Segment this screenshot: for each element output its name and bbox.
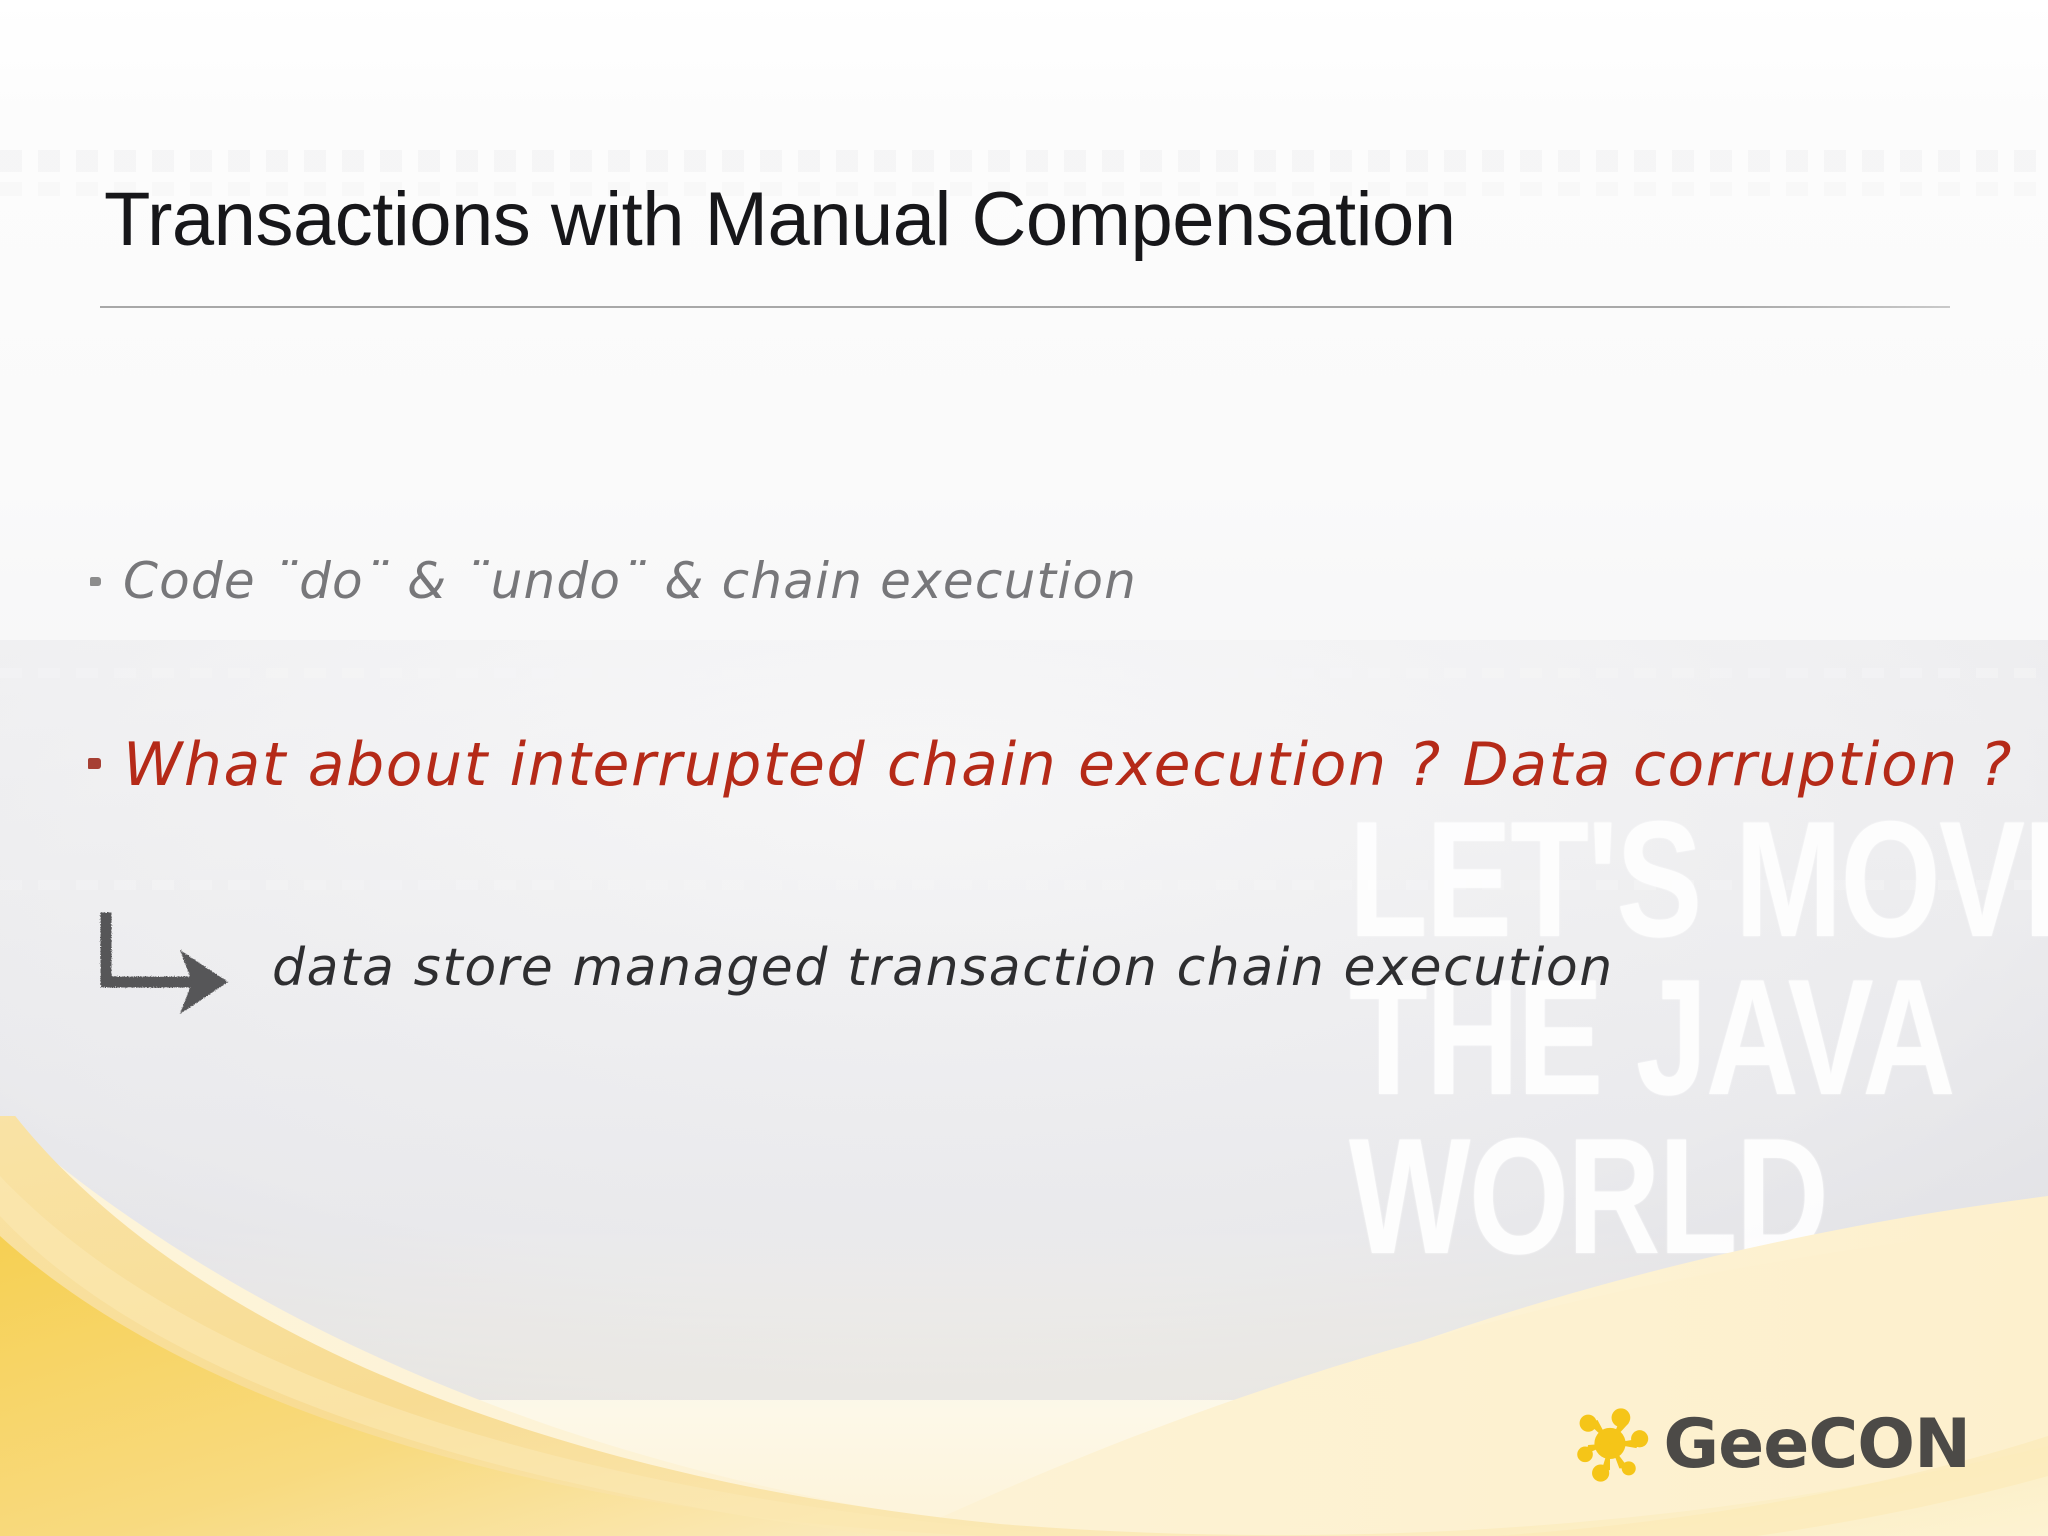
bullet-dot-icon <box>90 577 101 586</box>
geecon-logo: GeeCON <box>1571 1406 1970 1484</box>
bullet-item-conclusion: data store managed transaction chain exe… <box>92 912 1614 1024</box>
slide-body: Code ¨do¨ & ¨undo¨ & chain execution Wha… <box>0 0 2048 1536</box>
geecon-logo-text: GeeCON <box>1663 1411 1970 1479</box>
bullet-item-code: Code ¨do¨ & ¨undo¨ & chain execution <box>90 552 1137 610</box>
slide-canvas: LET'S MOVE THE JAVA WORLD <box>0 0 2048 1536</box>
geecon-splat-icon <box>1571 1406 1649 1484</box>
bullet-item-question: What about interrupted chain execution ?… <box>88 730 2013 800</box>
bullet-dot-icon <box>88 758 101 769</box>
bullet-label-question: What about interrupted chain execution ?… <box>123 730 2013 800</box>
bullet-label-conclusion: data store managed transaction chain exe… <box>272 938 1614 998</box>
bullet-label-code: Code ¨do¨ & ¨undo¨ & chain execution <box>123 552 1137 610</box>
elbow-arrow-icon <box>92 912 242 1024</box>
